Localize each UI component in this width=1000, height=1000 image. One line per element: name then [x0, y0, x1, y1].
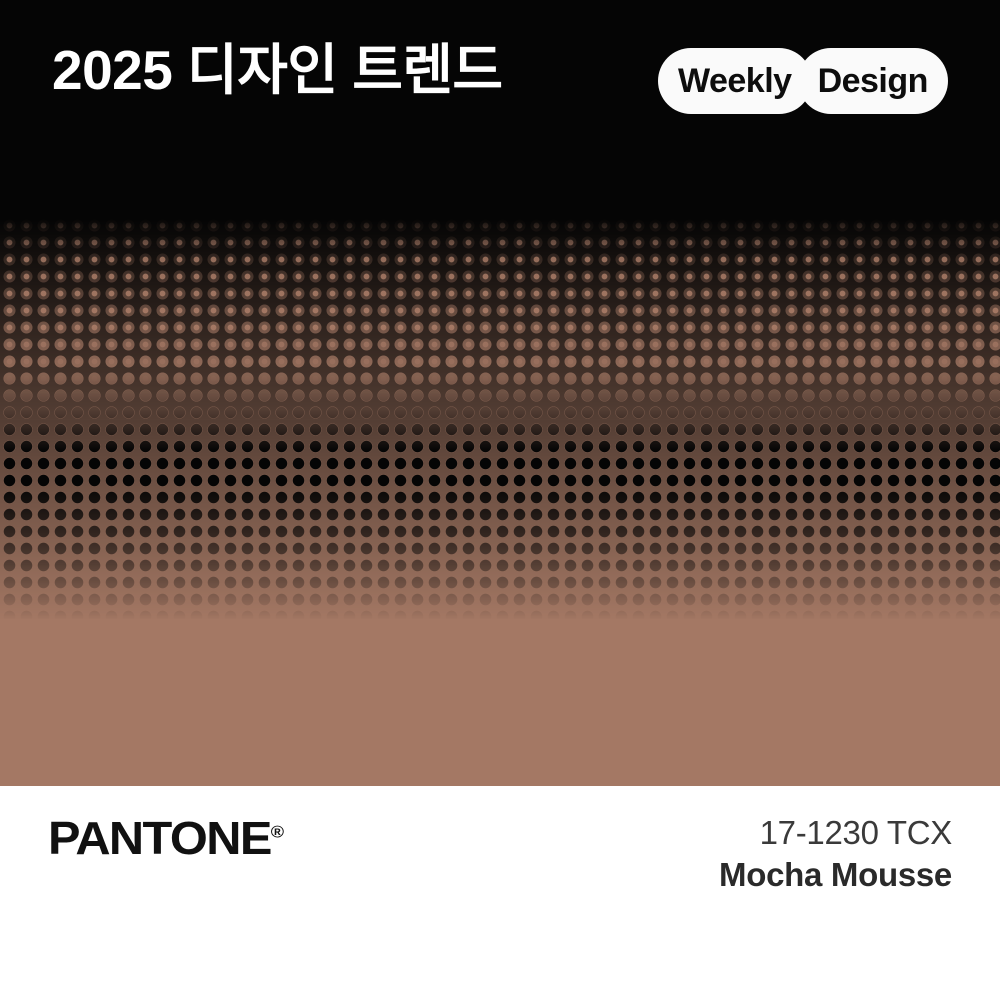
- halftone-dark-dots: [0, 216, 1000, 786]
- design-trend-card: 2025 디자인 트렌드 Weekly Design PANTONE® 17-1…: [0, 0, 1000, 1000]
- page-title: 2025 디자인 트렌드: [52, 40, 503, 101]
- badge-pill-design[interactable]: Design: [798, 48, 948, 114]
- swatch-name: Mocha Mousse: [532, 853, 952, 898]
- registered-trademark-icon: ®: [271, 823, 284, 842]
- header: 2025 디자인 트렌드 Weekly Design: [0, 0, 1000, 216]
- badge-pill-weekly[interactable]: Weekly: [658, 48, 812, 114]
- pantone-logo: PANTONE®: [48, 815, 284, 861]
- swatch-meta: 17-1230 TCX Mocha Mousse: [532, 812, 952, 898]
- weekly-design-badge[interactable]: Weekly Design: [658, 48, 948, 114]
- pantone-wordmark: PANTONE: [48, 812, 271, 864]
- swatch-code: 17-1230 TCX: [532, 812, 952, 853]
